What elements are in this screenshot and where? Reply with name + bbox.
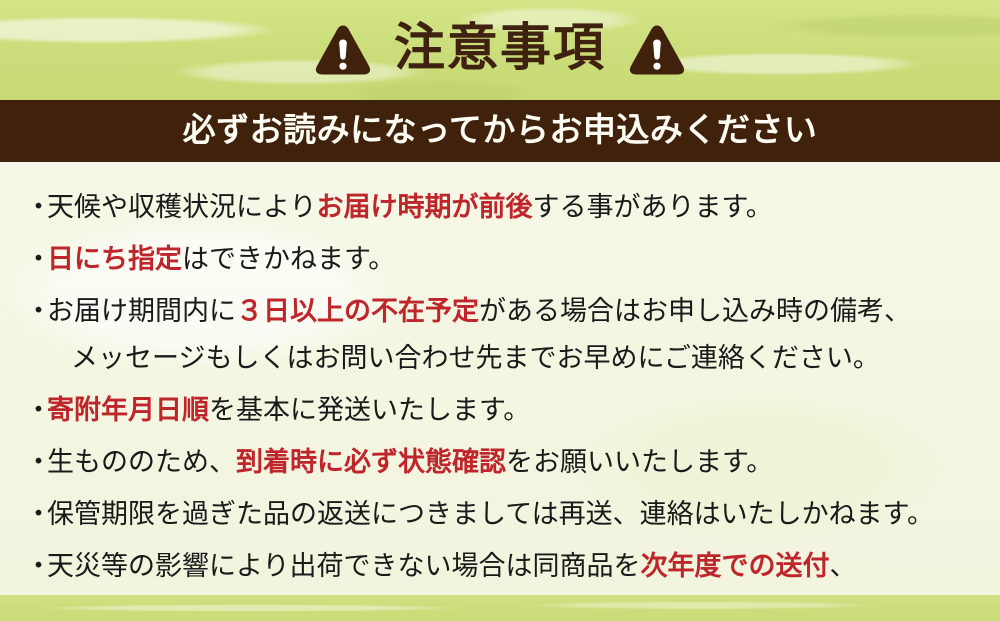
warning-triangle-icon <box>628 23 686 77</box>
notice-text: 天候や収穫状況により <box>47 192 316 223</box>
bullet-marker: ・ <box>25 543 47 590</box>
warning-triangle-icon <box>314 23 372 77</box>
notice-text: 、 <box>829 551 856 582</box>
emphasis-text: 日にち指定 <box>47 244 182 275</box>
notice-body: ・天候や収穫状況によりお届け時期が前後する事があります。・日にち指定はできかねま… <box>0 162 1000 595</box>
notice-text: 生もののため、 <box>47 447 236 478</box>
notice-text: をお願いいたします。 <box>506 447 773 478</box>
notice-text: お届け期間内に <box>47 296 236 327</box>
page-title: 注意事項 <box>394 23 606 77</box>
notice-item-delivery-timing: ・天候や収穫状況によりお届け時期が前後する事があります。 <box>0 184 1000 231</box>
notice-text: する事があります。 <box>532 192 772 223</box>
notice-continuation-line: メッセージもしくはお問い合わせ先までお早めにご連絡ください。 <box>25 335 976 382</box>
emphasis-text: 次年度での送付 <box>640 551 829 582</box>
notice-item-shipping-order: ・寄附年月日順を基本に発送いたします。 <box>0 387 1000 434</box>
notice-card: 注意事項 必ずお読みになってからお申込みください ・天候や収穫状況によりお届け時… <box>0 0 1000 621</box>
bullet-marker: ・ <box>25 491 47 538</box>
bullet-marker: ・ <box>25 236 47 283</box>
notice-item-date-designation: ・日にち指定はできかねます。 <box>0 236 1000 283</box>
bullet-marker: ・ <box>25 387 47 434</box>
notice-header: 注意事項 <box>0 0 1000 100</box>
notice-item-check-on-arrival: ・生もののため、到着時に必ず状態確認をお願いいたします。 <box>0 439 1000 486</box>
emphasis-text: 到着時に必ず状態確認 <box>236 447 506 478</box>
notice-text: がある場合はお申し込み時の備考、 <box>479 296 911 327</box>
bullet-marker: ・ <box>25 439 47 486</box>
notice-item-absence-notice: ・お届け期間内に３日以上の不在予定がある場合はお申し込み時の備考、メッセージもし… <box>0 288 1000 382</box>
notice-text: はできかねます。 <box>182 244 395 275</box>
notice-text: 保管期限を過ぎた品の返送につきましては再送、連絡はいたしかねます。 <box>47 499 934 530</box>
notice-text: メッセージもしくはお問い合わせ先までお早めにご連絡ください。 <box>71 343 880 374</box>
footer-strip <box>0 595 1000 621</box>
emphasis-text: お届け時期が前後 <box>316 192 532 223</box>
notice-item-storage-expiry: ・保管期限を過ぎた品の返送につきましては再送、連絡はいたしかねます。 <box>0 491 1000 538</box>
emphasis-text: 寄附年月日順 <box>47 395 209 426</box>
bullet-marker: ・ <box>25 288 47 335</box>
notice-text: 天災等の影響により出荷できない場合は同商品を <box>47 551 640 582</box>
notice-text: を基本に発送いたします。 <box>209 395 530 426</box>
subtitle-text: 必ずお読みになってからお申込みください <box>183 113 818 149</box>
bullet-marker: ・ <box>25 184 47 231</box>
notice-list: ・天候や収穫状況によりお届け時期が前後する事があります。・日にち指定はできかねま… <box>0 184 1000 621</box>
subtitle-banner: 必ずお読みになってからお申込みください <box>0 100 1000 162</box>
emphasis-text: ３日以上の不在予定 <box>236 296 479 327</box>
